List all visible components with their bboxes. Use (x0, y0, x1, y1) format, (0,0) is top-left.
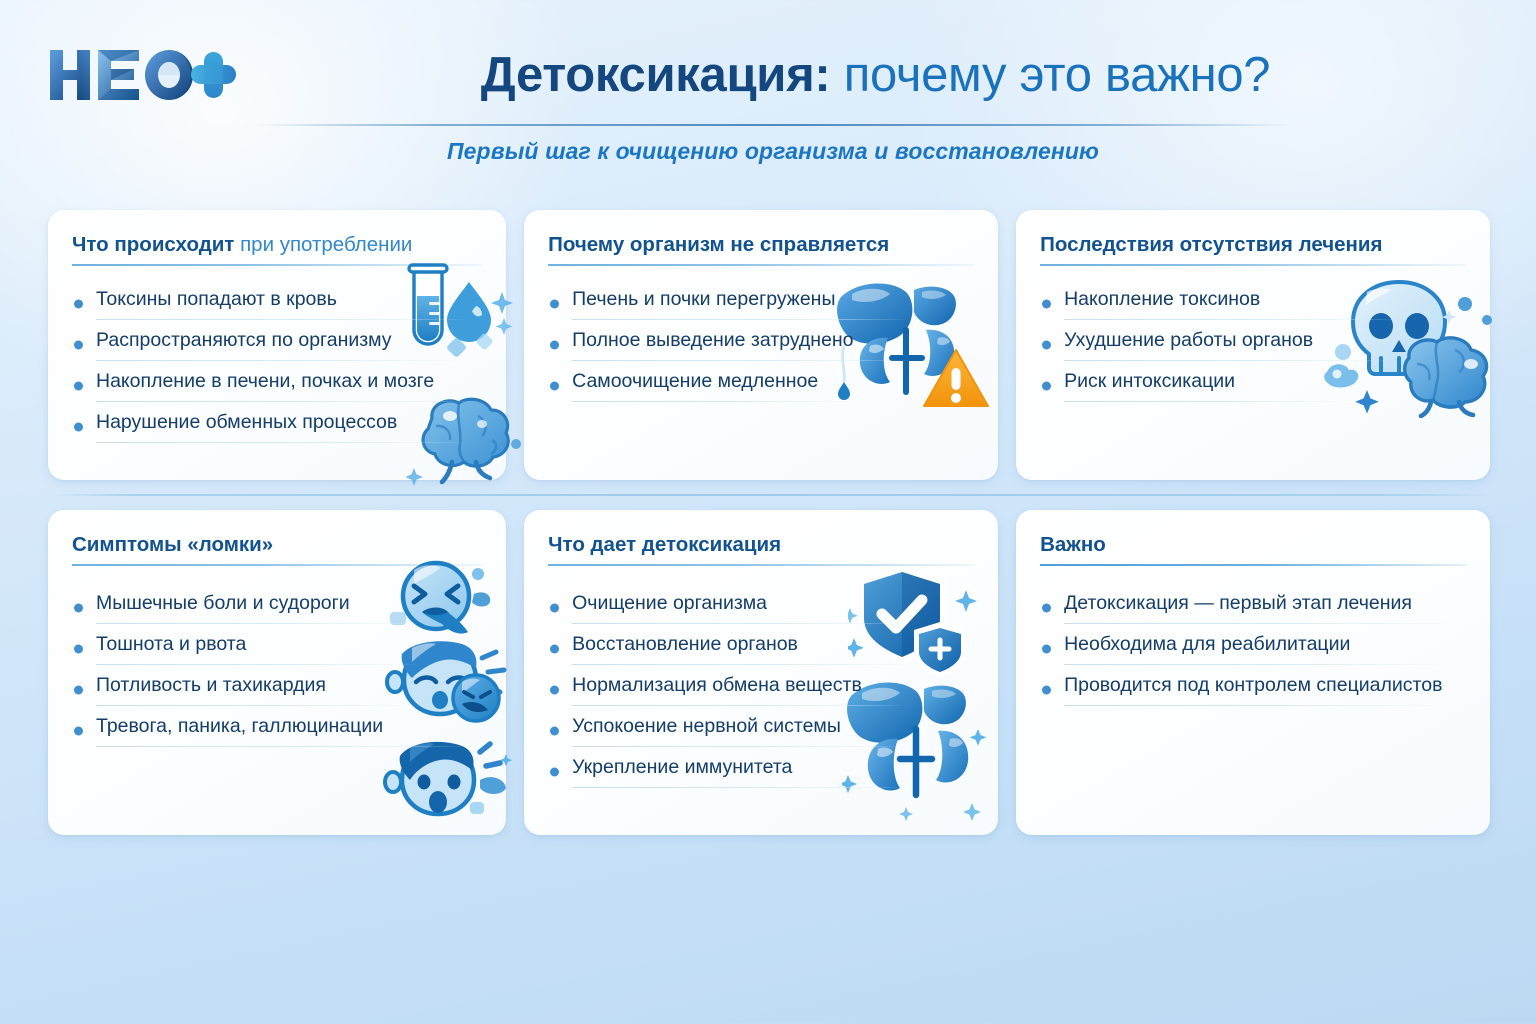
list-item: Самоочищение медленное (548, 370, 974, 402)
item-underline (1064, 319, 1402, 320)
list-item-label: Детоксикация — первый этап лечения (1064, 592, 1466, 623)
bullet-dot-icon (550, 604, 559, 613)
list-item-label: Необходима для реабилитации (1064, 633, 1466, 664)
list-item-label: Очищение организма (572, 592, 974, 623)
bullet-dot-icon (1042, 645, 1051, 654)
card-title-underline (548, 264, 974, 266)
item-underline (572, 319, 910, 320)
list-item-label: Ухудшение работы органов (1064, 329, 1466, 360)
bullet-dot-icon (550, 768, 559, 777)
list-item-label: Восстановление органов (572, 633, 974, 664)
card-list: Очищение организма Восстановление органо… (548, 592, 974, 797)
item-underline (1064, 664, 1454, 665)
bullet-dot-icon (74, 604, 83, 613)
card-header: Что происходит при употреблении (72, 232, 482, 266)
card-list: Мышечные боли и судороги Тошнота и рвота… (72, 592, 482, 756)
list-item-label: Тошнота и рвота (96, 633, 482, 664)
list-item-label: Токсины попадают в кровь (96, 288, 482, 319)
card-title: Почему организм не справляется (548, 232, 974, 257)
bullet-dot-icon (550, 382, 559, 391)
list-item: Риск интоксикации (1040, 370, 1466, 402)
bullet-dot-icon (74, 341, 83, 350)
card-title-underline (1040, 564, 1466, 566)
list-item-label: Накопление в печени, почках и мозге (96, 370, 482, 401)
card-header: Симптомы «ломки» (72, 532, 482, 566)
list-item: Необходима для реабилитации (1040, 633, 1466, 665)
list-item: Печень и почки перегружены (548, 288, 974, 320)
item-underline (96, 705, 420, 706)
item-underline (96, 360, 471, 361)
card-title-underline (72, 264, 482, 266)
item-underline (572, 705, 910, 706)
bullet-dot-icon (550, 645, 559, 654)
card-list: Детоксикация — первый этап лечения Необх… (1040, 592, 1466, 715)
item-underline (1064, 360, 1402, 361)
item-underline (1064, 401, 1353, 402)
list-item: Распространяются по организму (72, 329, 482, 361)
card-title: Важно (1040, 532, 1466, 557)
list-item: Токсины попадают в кровь (72, 288, 482, 320)
card-title-underline (1040, 264, 1466, 266)
list-item: Накопление в печени, почках и мозге (72, 370, 482, 402)
page-title-light: почему это важно? (844, 48, 1271, 102)
card-what-happens[interactable]: Что происходит при употреблении Токсины … (48, 210, 506, 480)
card-title-bold: Симптомы «ломки» (72, 533, 273, 556)
card-title-regular: при употреблении (240, 233, 412, 256)
card-title: Симптомы «ломки» (72, 532, 482, 557)
cards-grid: Что происходит при употреблении Токсины … (48, 210, 1490, 835)
item-underline (572, 360, 910, 361)
page-subtitle: Первый шаг к очищению организма и восста… (255, 138, 1291, 165)
bullet-dot-icon (1042, 382, 1051, 391)
list-item: Полное выведение затруднено (548, 329, 974, 361)
card-header: Последствия отсутствия лечения (1040, 232, 1466, 266)
item-underline (1064, 705, 1454, 706)
card-title: Последствия отсутствия лечения (1040, 232, 1466, 257)
list-item: Успокоение нервной системы (548, 715, 974, 747)
card-title-bold: Важно (1040, 533, 1106, 556)
item-underline (96, 623, 420, 624)
list-item-label: Полное выведение затруднено (572, 329, 974, 360)
list-item-label: Нарушение обменных процессов (96, 411, 482, 442)
item-underline (96, 319, 471, 320)
item-underline (96, 442, 471, 443)
list-item: Мышечные боли и судороги (72, 592, 482, 624)
row-divider (48, 494, 1490, 496)
list-item-label: Риск интоксикации (1064, 370, 1466, 401)
item-underline (572, 401, 861, 402)
item-underline (1064, 623, 1454, 624)
card-title: Что происходит при употреблении (72, 232, 482, 257)
card-list: Токсины попадают в кровь Распространяютс… (72, 288, 482, 452)
card-title-bold: Последствия отсутствия лечения (1040, 233, 1382, 256)
bullet-dot-icon (550, 341, 559, 350)
list-item-label: Тревога, паника, галлюцинации (96, 715, 482, 746)
card-list: Накопление токсинов Ухудшение работы орг… (1040, 288, 1466, 411)
card-title-bold: Что происходит (72, 233, 234, 256)
card-important[interactable]: Важно Детоксикация — первый этап лечения… (1016, 510, 1490, 835)
list-item: Укрепление иммунитета (548, 756, 974, 788)
page-title-bold: Детоксикация: (481, 48, 831, 102)
bullet-dot-icon (74, 686, 83, 695)
item-underline (96, 401, 471, 402)
bullet-dot-icon (1042, 604, 1051, 613)
list-item: Проводится под контролем специалистов (1040, 674, 1466, 706)
bullet-dot-icon (74, 300, 83, 309)
item-underline (572, 787, 910, 788)
bullet-dot-icon (550, 300, 559, 309)
list-item: Очищение организма (548, 592, 974, 624)
bullet-dot-icon (74, 382, 83, 391)
card-header: Почему организм не справляется (548, 232, 974, 266)
list-item-label: Нормализация обмена веществ (572, 674, 974, 705)
card-title-underline (548, 564, 974, 566)
item-underline (96, 746, 471, 747)
bullet-dot-icon (550, 727, 559, 736)
cards-row-top: Что происходит при употреблении Токсины … (48, 210, 1490, 480)
list-item: Ухудшение работы органов (1040, 329, 1466, 361)
item-underline (572, 623, 910, 624)
card-title-underline (72, 564, 482, 566)
card-list: Печень и почки перегружены Полное выведе… (548, 288, 974, 411)
card-title-bold: Почему организм не справляется (548, 233, 889, 256)
cards-row-bottom: Симптомы «ломки» Мышечные боли и судорог… (48, 510, 1490, 835)
list-item: Восстановление органов (548, 633, 974, 665)
neo-plus-logo (44, 42, 254, 108)
list-item-label: Успокоение нервной системы (572, 715, 974, 746)
list-item-label: Накопление токсинов (1064, 288, 1466, 319)
list-item: Детоксикация — первый этап лечения (1040, 592, 1466, 624)
card-why-body-fails[interactable]: Почему организм не справляется Печень и … (524, 210, 998, 480)
item-underline (572, 664, 910, 665)
card-no-treatment-consequences[interactable]: Последствия отсутствия лечения Накоплени… (1016, 210, 1490, 480)
bullet-dot-icon (74, 645, 83, 654)
list-item-label: Мышечные боли и судороги (96, 592, 482, 623)
bullet-dot-icon (1042, 341, 1051, 350)
page-header: Детоксикация: почему это важно? Первый ш… (0, 0, 1536, 180)
list-item: Тошнота и рвота (72, 633, 482, 665)
item-underline (96, 664, 420, 665)
list-item: Нарушение обменных процессов (72, 411, 482, 443)
item-underline (572, 746, 910, 747)
list-item: Нормализация обмена веществ (548, 674, 974, 706)
list-item-label: Потливость и тахикардия (96, 674, 482, 705)
bullet-dot-icon (550, 686, 559, 695)
list-item-label: Проводится под контролем специалистов (1064, 674, 1466, 705)
page-title: Детоксикация: почему это важно? (255, 38, 1496, 114)
list-item: Потливость и тахикардия (72, 674, 482, 706)
bullet-dot-icon (74, 727, 83, 736)
list-item: Накопление токсинов (1040, 288, 1466, 320)
card-detox-benefits[interactable]: Что дает детоксикация Очищение организма… (524, 510, 998, 835)
card-title-bold: Что дает детоксикация (548, 533, 781, 556)
list-item-label: Укрепление иммунитета (572, 756, 974, 787)
list-item: Тревога, паника, галлюцинации (72, 715, 482, 747)
card-header: Что дает детоксикация (548, 532, 974, 566)
list-item-label: Распространяются по организму (96, 329, 482, 360)
card-title: Что дает детоксикация (548, 532, 974, 557)
header-divider (255, 124, 1291, 126)
bullet-dot-icon (1042, 300, 1051, 309)
card-header: Важно (1040, 532, 1466, 566)
bullet-dot-icon (74, 423, 83, 432)
list-item-label: Печень и почки перегружены (572, 288, 974, 319)
card-withdrawal-symptoms[interactable]: Симптомы «ломки» Мышечные боли и судорог… (48, 510, 506, 835)
bullet-dot-icon (1042, 686, 1051, 695)
list-item-label: Самоочищение медленное (572, 370, 974, 401)
